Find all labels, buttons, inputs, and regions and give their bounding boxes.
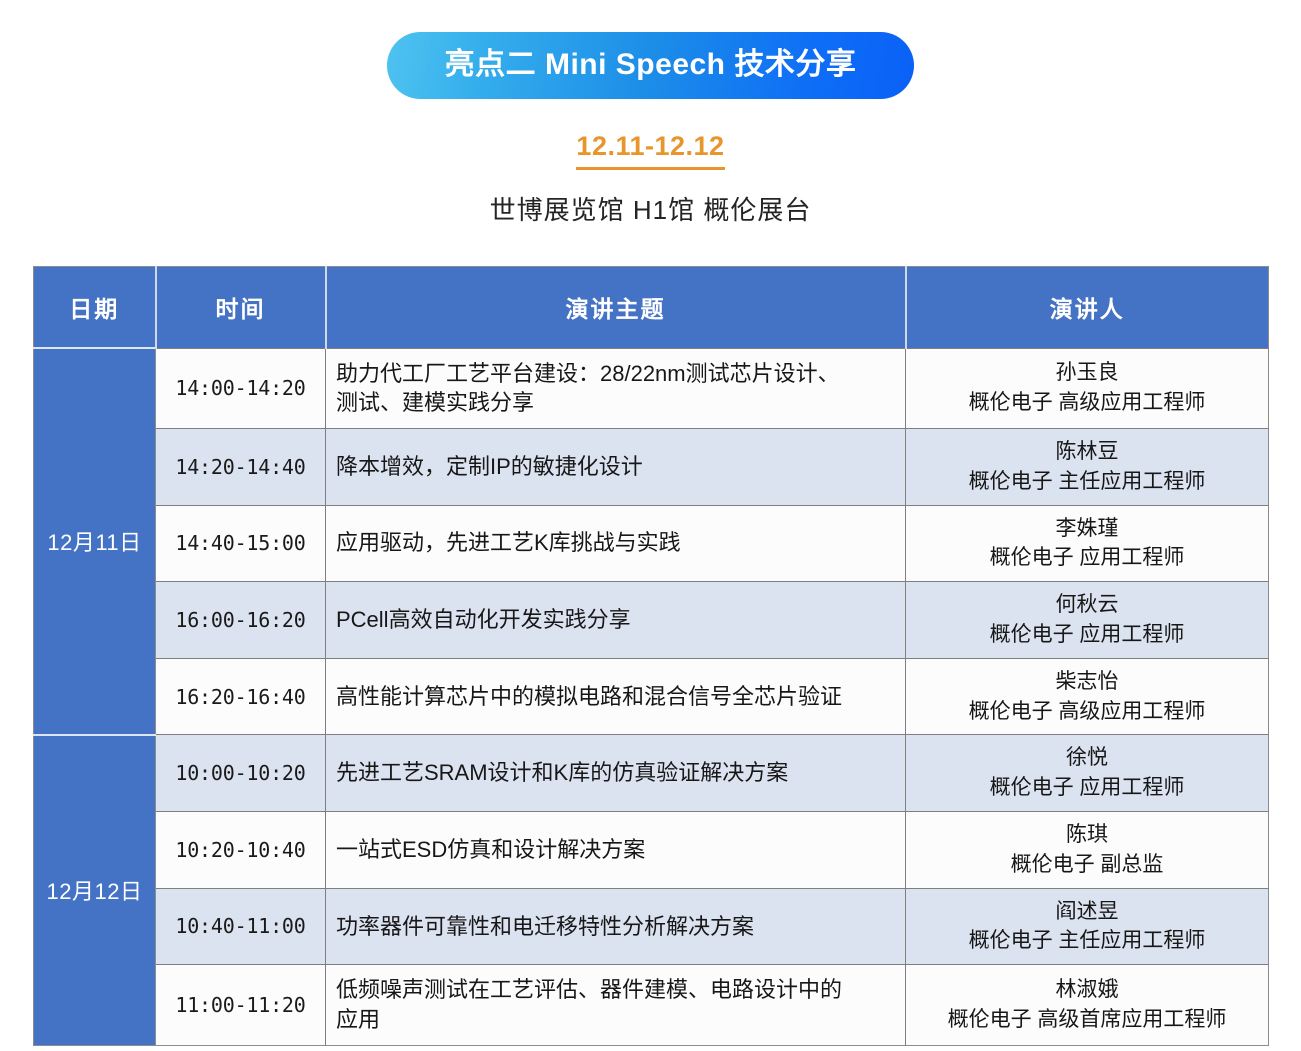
topic-line: 高性能计算芯片中的模拟电路和混合信号全芯片验证: [336, 682, 897, 712]
topic-cell: 一站式ESD仿真和设计解决方案: [326, 812, 906, 889]
speaker-name: 李姝瑾: [912, 514, 1262, 544]
date-group-cell-day1: 12月11日: [34, 348, 156, 735]
highlight-title-badge: 亮点二 Mini Speech 技术分享: [387, 32, 915, 99]
time-cell: 14:00-14:20: [156, 348, 326, 428]
speaker-cell: 李姝瑾概伦电子 应用工程师: [906, 505, 1269, 582]
schedule-table: 日期 时间 演讲主题 演讲人 12月11日 14:00-14:20 助力代工厂工…: [33, 266, 1269, 1046]
date-group-cell-day2: 12月12日: [34, 735, 156, 1045]
column-header-speaker: 演讲人: [906, 267, 1269, 349]
topic-cell: 功率器件可靠性和电迁移特性分析解决方案: [326, 888, 906, 965]
speaker-cell: 柴志怡概伦电子 高级应用工程师: [906, 658, 1269, 735]
time-cell: 10:00-10:20: [156, 735, 326, 812]
speaker-cell: 陈林豆概伦电子 主任应用工程师: [906, 428, 1269, 505]
speaker-name: 徐悦: [912, 743, 1262, 773]
speaker-role: 概伦电子 高级应用工程师: [912, 388, 1262, 418]
table-header: 日期 时间 演讲主题 演讲人: [34, 267, 1269, 349]
time-cell: 14:40-15:00: [156, 505, 326, 582]
speaker-role: 概伦电子 应用工程师: [912, 543, 1262, 573]
date-range-text: 12.11-12.12: [576, 131, 724, 170]
column-header-topic: 演讲主题: [326, 267, 906, 349]
topic-line: 低频噪声测试在工艺评估、器件建模、电路设计中的: [336, 975, 897, 1005]
table-row: 16:00-16:20 PCell高效自动化开发实践分享 何秋云概伦电子 应用工…: [34, 582, 1269, 659]
topic-line: 应用驱动，先进工艺K库挑战与实践: [336, 528, 897, 558]
topic-line: 应用: [336, 1005, 897, 1035]
venue-text: 世博展览馆 H1馆 概伦展台: [0, 190, 1301, 227]
topic-line: PCell高效自动化开发实践分享: [336, 605, 897, 635]
speaker-name: 陈林豆: [912, 437, 1262, 467]
table-row: 12月11日 14:00-14:20 助力代工厂工艺平台建设：28/22nm测试…: [34, 348, 1269, 428]
column-header-date: 日期: [34, 267, 156, 349]
speaker-cell: 何秋云概伦电子 应用工程师: [906, 582, 1269, 659]
table-row: 14:40-15:00 应用驱动，先进工艺K库挑战与实践 李姝瑾概伦电子 应用工…: [34, 505, 1269, 582]
schedule-table-container: 日期 时间 演讲主题 演讲人 12月11日 14:00-14:20 助力代工厂工…: [33, 266, 1268, 1046]
speaker-role: 概伦电子 主任应用工程师: [912, 467, 1262, 497]
speaker-role: 概伦电子 应用工程师: [912, 620, 1262, 650]
speaker-role: 概伦电子 应用工程师: [912, 773, 1262, 803]
topic-line: 助力代工厂工艺平台建设：28/22nm测试芯片设计、: [336, 359, 897, 389]
speaker-role: 概伦电子 主任应用工程师: [912, 926, 1262, 956]
table-row: 11:00-11:20 低频噪声测试在工艺评估、器件建模、电路设计中的应用 林淑…: [34, 965, 1269, 1045]
time-cell: 11:00-11:20: [156, 965, 326, 1045]
table-row: 10:20-10:40 一站式ESD仿真和设计解决方案 陈琪概伦电子 副总监: [34, 812, 1269, 889]
table-body: 12月11日 14:00-14:20 助力代工厂工艺平台建设：28/22nm测试…: [34, 348, 1269, 1045]
column-header-time: 时间: [156, 267, 326, 349]
table-row: 16:20-16:40 高性能计算芯片中的模拟电路和混合信号全芯片验证 柴志怡概…: [34, 658, 1269, 735]
topic-cell: 先进工艺SRAM设计和K库的仿真验证解决方案: [326, 735, 906, 812]
topic-cell: 高性能计算芯片中的模拟电路和混合信号全芯片验证: [326, 658, 906, 735]
speaker-name: 阎述昱: [912, 897, 1262, 927]
speaker-cell: 阎述昱概伦电子 主任应用工程师: [906, 888, 1269, 965]
speaker-cell: 徐悦概伦电子 应用工程师: [906, 735, 1269, 812]
table-row: 12月12日 10:00-10:20 先进工艺SRAM设计和K库的仿真验证解决方…: [34, 735, 1269, 812]
time-cell: 16:20-16:40: [156, 658, 326, 735]
topic-line: 一站式ESD仿真和设计解决方案: [336, 835, 897, 865]
speaker-role: 概伦电子 副总监: [912, 850, 1262, 880]
topic-line: 先进工艺SRAM设计和K库的仿真验证解决方案: [336, 758, 897, 788]
time-cell: 10:40-11:00: [156, 888, 326, 965]
table-header-row: 日期 时间 演讲主题 演讲人: [34, 267, 1269, 349]
speaker-name: 林淑娥: [912, 975, 1262, 1005]
speaker-name: 孙玉良: [912, 358, 1262, 388]
speaker-name: 陈琪: [912, 820, 1262, 850]
topic-line: 降本增效，定制IP的敏捷化设计: [336, 452, 897, 482]
speaker-role: 概伦电子 高级应用工程师: [912, 697, 1262, 727]
date-range-container: 12.11-12.12: [0, 131, 1301, 170]
speaker-role: 概伦电子 高级首席应用工程师: [912, 1005, 1262, 1035]
time-cell: 16:00-16:20: [156, 582, 326, 659]
speaker-name: 柴志怡: [912, 667, 1262, 697]
page-header: 亮点二 Mini Speech 技术分享: [0, 0, 1301, 99]
table-row: 10:40-11:00 功率器件可靠性和电迁移特性分析解决方案 阎述昱概伦电子 …: [34, 888, 1269, 965]
table-row: 14:20-14:40 降本增效，定制IP的敏捷化设计 陈林豆概伦电子 主任应用…: [34, 428, 1269, 505]
speaker-cell: 孙玉良概伦电子 高级应用工程师: [906, 348, 1269, 428]
topic-line: 测试、建模实践分享: [336, 388, 897, 418]
speaker-cell: 陈琪概伦电子 副总监: [906, 812, 1269, 889]
topic-cell: PCell高效自动化开发实践分享: [326, 582, 906, 659]
speaker-cell: 林淑娥概伦电子 高级首席应用工程师: [906, 965, 1269, 1045]
topic-line: 功率器件可靠性和电迁移特性分析解决方案: [336, 912, 897, 942]
topic-cell: 应用驱动，先进工艺K库挑战与实践: [326, 505, 906, 582]
speaker-name: 何秋云: [912, 590, 1262, 620]
topic-cell: 助力代工厂工艺平台建设：28/22nm测试芯片设计、测试、建模实践分享: [326, 348, 906, 428]
topic-cell: 低频噪声测试在工艺评估、器件建模、电路设计中的应用: [326, 965, 906, 1045]
time-cell: 10:20-10:40: [156, 812, 326, 889]
time-cell: 14:20-14:40: [156, 428, 326, 505]
topic-cell: 降本增效，定制IP的敏捷化设计: [326, 428, 906, 505]
